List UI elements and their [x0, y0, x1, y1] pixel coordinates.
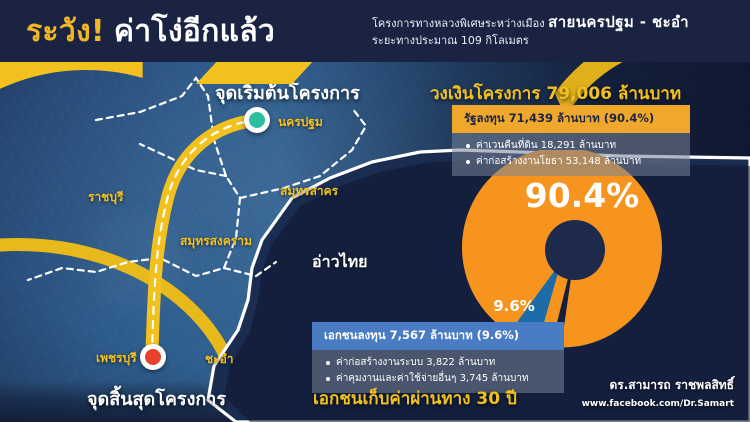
list-item: ค่าก่อสร้างงานโยธา 53,148 ล้านบาท: [462, 154, 680, 170]
author-credit-url[interactable]: www.facebook.com/Dr.Samart: [582, 399, 734, 409]
gulf-of-thailand-label: อ่าวไทย: [312, 250, 368, 275]
province-label-phetchaburi: เพชรบุรี: [96, 349, 137, 368]
list-item: ค่าคุมงานและค่าใช้จ่ายอื่นๆ 3,745 ล้านบา…: [322, 371, 554, 387]
donut-svg: 90.4% 9.6%: [452, 150, 702, 350]
government-item-0: ค่าเวนคืนที่ดิน 18,291 ล้านบาท: [476, 138, 616, 154]
bullet-dot-icon: [466, 144, 470, 148]
donut-hole: [545, 220, 605, 280]
bullet-dot-icon: [326, 361, 330, 365]
project-distance: ระยะทางประมาณ 109 กิโลเมตร: [372, 33, 689, 49]
government-card-body: ค่าเวนคืนที่ดิน 18,291 ล้านบาท ค่าก่อสร้…: [452, 133, 690, 176]
project-prefix: โครงการทางหลวงพิเศษระหว่างเมือง: [372, 17, 545, 30]
donut-label-government: 90.4%: [525, 176, 640, 215]
start-point-marker[interactable]: [244, 107, 270, 133]
title-main-word: ค่าโง่อีกแล้ว: [114, 14, 275, 49]
list-item: ค่าก่อสร้างงานระบบ 3,822 ล้านบาท: [322, 355, 554, 371]
province-label-ratchaburi: ราชบุรี: [88, 188, 123, 207]
private-card-header: เอกชนลงทุน 7,567 ล้านบาท (9.6%): [312, 322, 564, 350]
author-credit-name: ดร.สามารถ ราชพลสิทธิ์: [609, 376, 734, 395]
concession-headline: เอกชนเก็บค่าผ่านทาง 30 ปี: [313, 385, 517, 412]
private-item-0: ค่าก่อสร้างงานระบบ 3,822 ล้านบาท: [336, 355, 495, 371]
end-point-marker[interactable]: [140, 344, 166, 370]
end-point-title: จุดสิ้นสุดโครงการ: [87, 384, 226, 413]
start-node-label: นครปฐม: [278, 113, 323, 132]
project-name: สายนครปฐม - ชะอำ: [548, 13, 689, 31]
header-banner: ระวัง!ค่าโง่อีกแล้ว โครงการทางหลวงพิเศษร…: [0, 0, 750, 62]
government-item-1: ค่าก่อสร้างงานโยธา 53,148 ล้านบาท: [476, 154, 641, 170]
title-warning-word: ระวัง!: [26, 14, 105, 49]
private-item-1: ค่าคุมงานและค่าใช้จ่ายอื่นๆ 3,745 ล้านบา…: [336, 371, 529, 387]
donut-label-private: 9.6%: [493, 297, 535, 315]
bullet-dot-icon: [326, 377, 330, 381]
infographic-canvas: ราชบุรี สมุทรสาคร สมุทรสงคราม เพชรบุรี อ…: [0, 0, 750, 422]
province-label-samutsongkhram: สมุทรสงคราม: [180, 232, 252, 251]
project-subtitle-block: โครงการทางหลวงพิเศษระหว่างเมือง สายนครปฐ…: [372, 12, 689, 49]
investment-donut-chart: 90.4% 9.6%: [452, 150, 702, 350]
bullet-dot-icon: [466, 160, 470, 164]
private-investment-card: เอกชนลงทุน 7,567 ล้านบาท (9.6%) ค่าก่อสร…: [312, 322, 564, 393]
project-line-1: โครงการทางหลวงพิเศษระหว่างเมือง สายนครปฐ…: [372, 12, 689, 33]
province-label-samutsakhon: สมุทรสาคร: [280, 182, 338, 201]
total-budget-headline: วงเงินโครงการ 79,006 ล้านบาท: [430, 80, 681, 107]
end-node-label: ชะอำ: [205, 350, 234, 369]
government-card-header: รัฐลงทุน 71,439 ล้านบาท (90.4%): [452, 105, 690, 133]
page-title: ระวัง!ค่าโง่อีกแล้ว: [26, 8, 275, 55]
government-investment-card: รัฐลงทุน 71,439 ล้านบาท (90.4%) ค่าเวนคื…: [452, 105, 690, 176]
list-item: ค่าเวนคืนที่ดิน 18,291 ล้านบาท: [462, 138, 680, 154]
